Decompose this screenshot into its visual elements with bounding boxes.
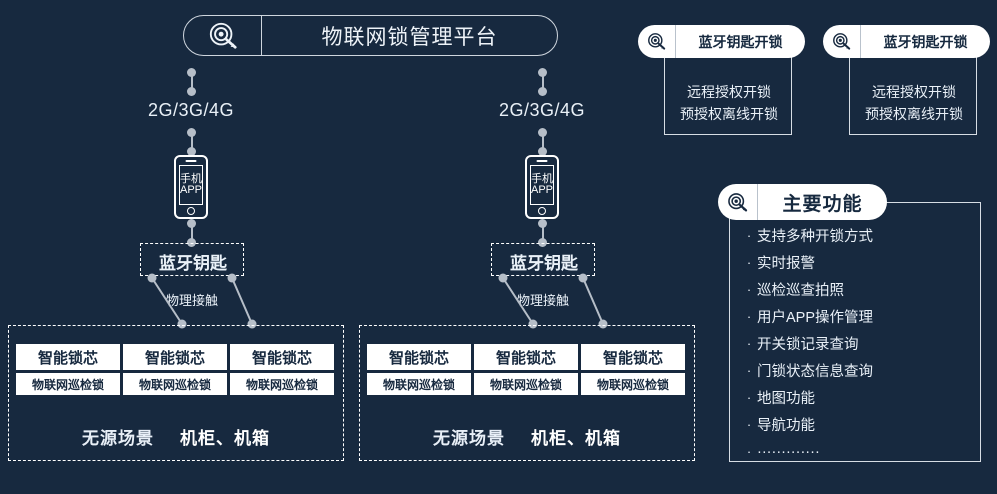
lock-card[interactable]: 智能锁芯 物联网巡检锁 xyxy=(16,344,120,395)
connector-key-to-scene-left xyxy=(140,272,260,332)
function-label: 巡检巡查拍照 xyxy=(757,279,844,300)
function-label: 导航功能 xyxy=(757,414,815,435)
bluetooth-unlock-pill-2: 蓝牙钥匙开锁 xyxy=(823,25,990,58)
phone-speaker xyxy=(537,160,548,162)
function-list-item[interactable]: · 导航功能 xyxy=(741,411,981,438)
smartphone-icon-left: 手机 APP xyxy=(174,155,208,219)
connector-key-to-scene-right xyxy=(491,272,611,332)
lock-card[interactable]: 智能锁芯 物联网巡检锁 xyxy=(230,344,334,395)
function-label: 用户APP操作管理 xyxy=(757,306,873,327)
lock-card[interactable]: 智能锁芯 物联网巡检锁 xyxy=(581,344,685,395)
bullet-icon: · xyxy=(741,309,757,324)
bullet-icon: · xyxy=(741,255,757,270)
bluetooth-key-label: 蓝牙钥匙 xyxy=(492,249,596,274)
lock-title: 智能锁芯 xyxy=(581,344,685,370)
phone-screen: 手机 APP xyxy=(179,165,203,205)
unlock-line: 预授权离线开锁 xyxy=(850,102,978,127)
unlock-card-title: 蓝牙钥匙开锁 xyxy=(861,32,990,52)
target-search-icon xyxy=(823,25,861,58)
lock-subtitle: 物联网巡检锁 xyxy=(123,373,227,395)
scene-caption-left: 无源场景 机柜、机箱 xyxy=(9,424,343,449)
scene-target-label: 机柜、机箱 xyxy=(180,424,270,449)
target-search-icon xyxy=(184,16,262,55)
lock-subtitle: 物联网巡检锁 xyxy=(230,373,334,395)
scene-type-label: 无源场景 xyxy=(82,424,154,449)
phone-speaker xyxy=(186,160,197,162)
page-title: 物联网锁管理平台 xyxy=(262,21,557,51)
lock-title: 智能锁芯 xyxy=(230,344,334,370)
scene-target-label: 机柜、机箱 xyxy=(531,424,621,449)
main-functions-title: 主要功能 xyxy=(758,189,887,216)
bluetooth-unlock-pill-1: 蓝牙钥匙开锁 xyxy=(638,25,805,58)
network-label-right: 2G/3G/4G xyxy=(482,100,602,121)
main-functions-list: · 支持多种开锁方式 · 实时报警 · 巡检巡查拍照 · 用户APP操作管理 ·… xyxy=(741,222,981,465)
function-list-item[interactable]: · 支持多种开锁方式 xyxy=(741,222,981,249)
function-list-item: · ············· xyxy=(741,438,981,465)
platform-title-pill: 物联网锁管理平台 xyxy=(183,15,558,56)
scene-container-left: 智能锁芯 物联网巡检锁 智能锁芯 物联网巡检锁 智能锁芯 物联网巡检锁 无源场景… xyxy=(8,325,344,461)
diagram-canvas: 物联网锁管理平台 2G/3G/4G 手机 APP 蓝牙钥匙 物理接触 xyxy=(0,0,997,494)
function-list-item[interactable]: · 用户APP操作管理 xyxy=(741,303,981,330)
function-label: 实时报警 xyxy=(757,252,815,273)
bullet-icon: · xyxy=(741,444,757,459)
network-label-left: 2G/3G/4G xyxy=(131,100,251,121)
lock-subtitle: 物联网巡检锁 xyxy=(581,373,685,395)
bullet-icon: · xyxy=(741,228,757,243)
function-label: 地图功能 xyxy=(757,387,815,408)
target-search-icon xyxy=(718,184,758,220)
lock-subtitle: 物联网巡检锁 xyxy=(474,373,578,395)
function-list-item[interactable]: · 实时报警 xyxy=(741,249,981,276)
target-search-icon xyxy=(638,25,676,58)
bullet-icon: · xyxy=(741,282,757,297)
phone-home-button xyxy=(187,207,195,215)
bullet-icon: · xyxy=(741,336,757,351)
lock-card[interactable]: 智能锁芯 物联网巡检锁 xyxy=(367,344,471,395)
scene-type-label: 无源场景 xyxy=(433,424,505,449)
function-label: 开关锁记录查询 xyxy=(757,333,859,354)
phone-screen: 手机 APP xyxy=(530,165,554,205)
lock-title: 智能锁芯 xyxy=(123,344,227,370)
function-label-ellipsis: ············· xyxy=(757,444,820,460)
function-label: 门锁状态信息查询 xyxy=(757,360,873,381)
phone-home-button xyxy=(538,207,546,215)
lock-subtitle: 物联网巡检锁 xyxy=(16,373,120,395)
function-list-item[interactable]: · 地图功能 xyxy=(741,384,981,411)
scene-caption-right: 无源场景 机柜、机箱 xyxy=(360,424,694,449)
unlock-card-body-1: 远程授权开锁 预授权离线开锁 xyxy=(664,46,792,135)
bullet-icon: · xyxy=(741,363,757,378)
function-label: 支持多种开锁方式 xyxy=(757,225,873,246)
function-list-item[interactable]: · 开关锁记录查询 xyxy=(741,330,981,357)
function-list-item[interactable]: · 门锁状态信息查询 xyxy=(741,357,981,384)
smartphone-icon-right: 手机 APP xyxy=(525,155,559,219)
unlock-card-title: 蓝牙钥匙开锁 xyxy=(676,32,805,52)
lock-card[interactable]: 智能锁芯 物联网巡检锁 xyxy=(123,344,227,395)
bullet-icon: · xyxy=(741,417,757,432)
lock-title: 智能锁芯 xyxy=(474,344,578,370)
main-functions-pill: 主要功能 xyxy=(718,184,887,220)
function-list-item[interactable]: · 巡检巡查拍照 xyxy=(741,276,981,303)
unlock-line: 预授权离线开锁 xyxy=(665,102,793,127)
lock-title: 智能锁芯 xyxy=(16,344,120,370)
bullet-icon: · xyxy=(741,390,757,405)
phone-label-line2: APP xyxy=(180,185,202,196)
unlock-card-body-2: 远程授权开锁 预授权离线开锁 xyxy=(849,46,977,135)
bluetooth-key-label: 蓝牙钥匙 xyxy=(141,249,245,274)
lock-title: 智能锁芯 xyxy=(367,344,471,370)
scene-container-right: 智能锁芯 物联网巡检锁 智能锁芯 物联网巡检锁 智能锁芯 物联网巡检锁 无源场景… xyxy=(359,325,695,461)
lock-card[interactable]: 智能锁芯 物联网巡检锁 xyxy=(474,344,578,395)
lock-subtitle: 物联网巡检锁 xyxy=(367,373,471,395)
phone-label-line2: APP xyxy=(531,185,553,196)
